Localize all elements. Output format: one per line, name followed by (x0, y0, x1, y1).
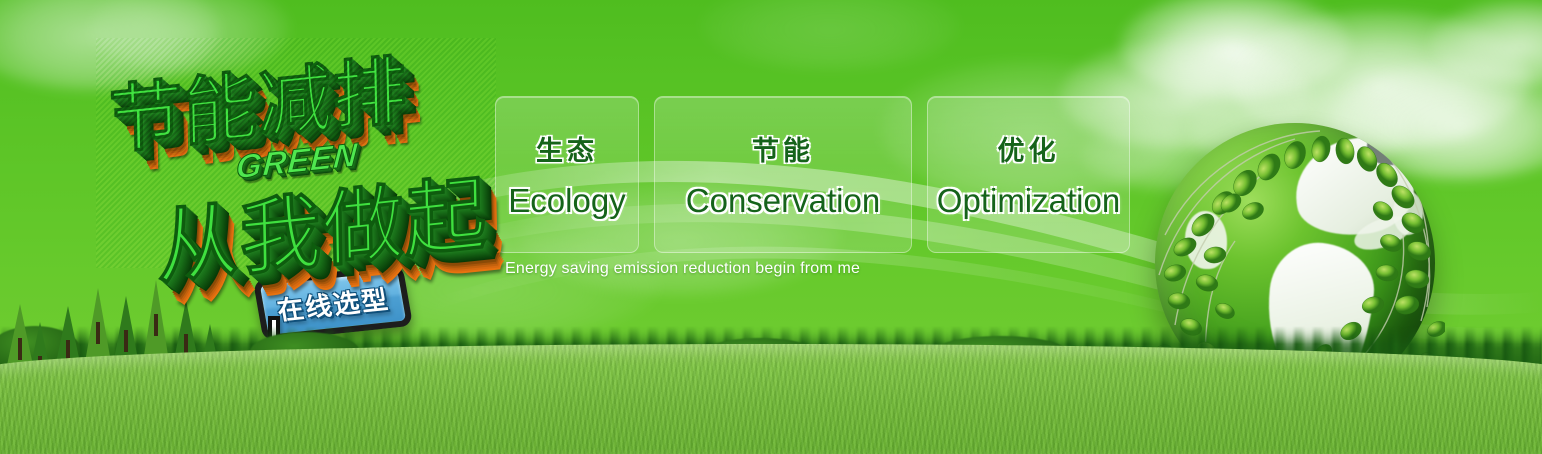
feature-card-en-label: Conservation (686, 182, 880, 220)
cloud-shape (1120, 0, 1350, 100)
feature-card-cn-label: 生态 (536, 129, 598, 168)
feature-card-list: 生态 Ecology 节能 Conservation 优化 Optimizati… (495, 96, 1130, 253)
feature-card-ecology[interactable]: 生态 Ecology (495, 96, 639, 253)
feature-card-cn-label: 节能 (752, 129, 814, 168)
feature-card-conservation[interactable]: 节能 Conservation (654, 96, 912, 253)
grass-field (0, 344, 1542, 454)
feature-card-optimization[interactable]: 优化 Optimization (927, 96, 1130, 253)
feature-card-cn-label: 优化 (998, 129, 1060, 168)
brand-logo-3d: 从我做起 节能减排 GREEN (96, 38, 496, 268)
cloud-shape (1430, 0, 1542, 85)
ground-landscape (0, 304, 1542, 454)
feature-card-en-label: Ecology (508, 182, 625, 220)
banner-tagline: Energy saving emission reduction begin f… (505, 260, 860, 278)
cloud-shape (700, 0, 960, 70)
feature-card-en-label: Optimization (937, 182, 1120, 220)
eco-promo-banner: 从我做起 节能减排 GREEN 在线选型 生态 Ecology 节能 Conse… (0, 0, 1542, 454)
